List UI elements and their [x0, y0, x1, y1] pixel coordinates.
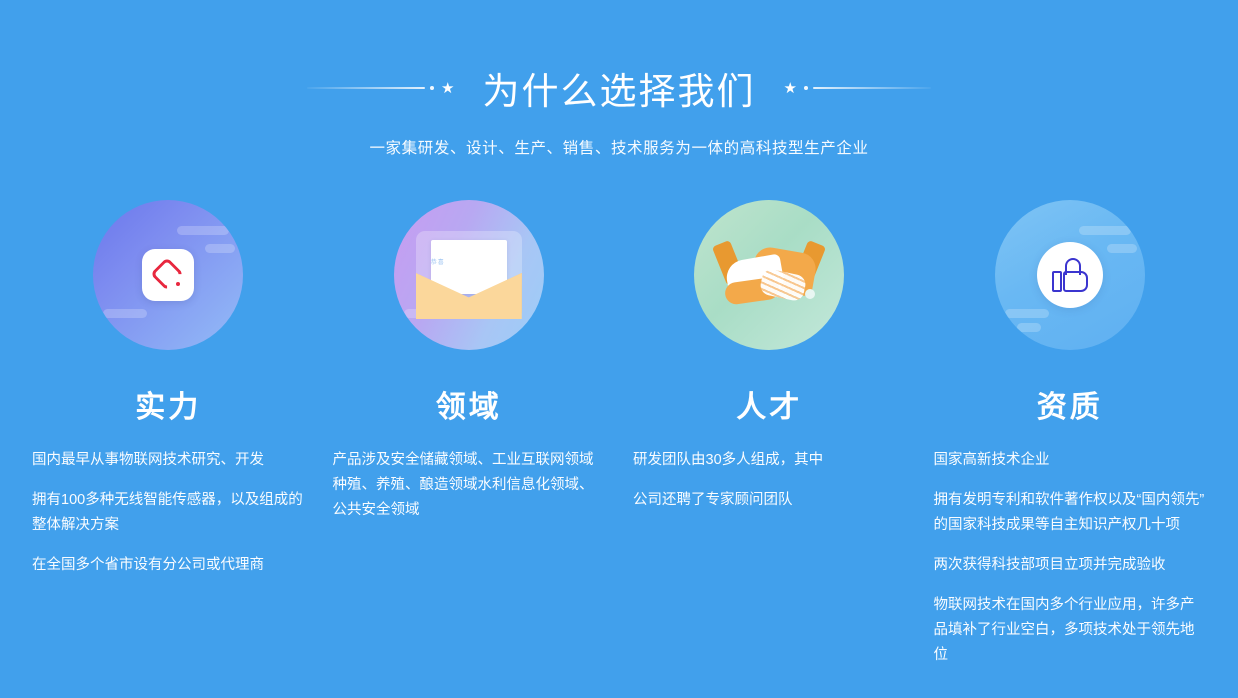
section-header: ★ 为什么选择我们 ★ 一家集研发、设计、生产、销售、技术服务为一体的高科技型生… — [0, 0, 1238, 158]
feature-column-field: 恭喜 领域 产品涉及安全储藏领域、工业互联网领域种殖、养殖、酿造领域水利信息化领… — [319, 200, 620, 668]
column-paragraph: 国家高新技术企业 — [934, 448, 1207, 473]
feature-column-quality: 资质 国家高新技术企业 拥有发明专利和软件著作权以及“国内领先”的国家科技成果等… — [920, 200, 1221, 668]
column-body-field: 产品涉及安全储藏领域、工业互联网领域种殖、养殖、酿造领域水利信息化领域、公共安全… — [333, 448, 606, 523]
glint-2 — [1107, 244, 1137, 253]
star-icon-left: ★ — [441, 81, 454, 96]
deco-line-right — [813, 87, 931, 89]
envelope-graphic: 恭喜 — [416, 231, 522, 319]
page-subtitle: 一家集研发、设计、生产、销售、技术服务为一体的高科技型生产企业 — [0, 136, 1238, 158]
glint-1 — [177, 226, 229, 235]
column-paragraph: 两次获得科技部项目立项并完成验收 — [934, 553, 1207, 578]
column-title-talent: 人才 — [736, 382, 802, 426]
glint-4 — [1017, 323, 1041, 332]
column-paragraph: 国内最早从事物联网技术研究、开发 — [32, 448, 305, 473]
deco-dot-left — [430, 86, 434, 90]
feature-column-strength: 实力 国内最早从事物联网技术研究、开发 拥有100多种无线智能传感器，以及组成的… — [18, 200, 319, 668]
deco-line-left — [307, 87, 425, 89]
diamond-icon — [151, 258, 185, 292]
glint-3 — [1005, 309, 1049, 318]
location-pin-icon — [797, 282, 823, 316]
page-title: 为什么选择我们 — [457, 61, 782, 115]
feature-column-talent: 人才 研发团队由30多人组成，其中 公司还聘了专家顾问团队 — [619, 200, 920, 668]
column-paragraph: 产品涉及安全储藏领域、工业互联网领域种殖、养殖、酿造领域水利信息化领域、公共安全… — [333, 448, 606, 523]
glint-2 — [205, 244, 235, 253]
column-paragraph: 拥有发明专利和软件著作权以及“国内领先”的国家科技成果等自主知识产权几十项 — [934, 488, 1207, 538]
thumb-graphic — [1052, 258, 1088, 292]
decorative-line-right: ★ — [782, 81, 931, 96]
handshake-location-icon — [694, 200, 844, 350]
column-body-talent: 研发团队由30多人组成，其中 公司还聘了专家顾问团队 — [633, 448, 906, 513]
deco-dot-right — [804, 86, 808, 90]
badge-square — [142, 249, 194, 301]
decorative-line-left: ★ — [307, 81, 456, 96]
thumb-circle — [1037, 242, 1103, 308]
feature-columns: 实力 国内最早从事物联网技术研究、开发 拥有100多种无线智能传感器，以及组成的… — [0, 200, 1238, 668]
envelope-letter-icon: 恭喜 — [394, 200, 544, 350]
column-body-strength: 国内最早从事物联网技术研究、开发 拥有100多种无线智能传感器，以及组成的整体解… — [32, 448, 305, 578]
column-title-strength: 实力 — [135, 382, 201, 426]
diamond-badge-icon — [93, 200, 243, 350]
star-icon-right: ★ — [784, 81, 797, 96]
column-paragraph: 研发团队由30多人组成，其中 — [633, 448, 906, 473]
glint-1 — [1079, 226, 1131, 235]
letter-heading: 恭喜 — [431, 260, 445, 266]
column-title-quality: 资质 — [1037, 382, 1103, 426]
glint-3 — [103, 309, 147, 318]
title-row: ★ 为什么选择我们 ★ — [0, 62, 1238, 114]
column-paragraph: 公司还聘了专家顾问团队 — [633, 488, 906, 513]
handshake-graphic — [717, 236, 821, 314]
column-body-quality: 国家高新技术企业 拥有发明专利和软件著作权以及“国内领先”的国家科技成果等自主知… — [934, 448, 1207, 668]
column-paragraph: 在全国多个省市设有分公司或代理商 — [32, 553, 305, 578]
column-paragraph: 拥有100多种无线智能传感器，以及组成的整体解决方案 — [32, 488, 305, 538]
thumbs-up-icon — [995, 200, 1145, 350]
column-paragraph: 物联网技术在国内多个行业应用，许多产品填补了行业空白，多项技术处于领先地位 — [934, 593, 1207, 668]
column-title-field: 领域 — [436, 382, 502, 426]
